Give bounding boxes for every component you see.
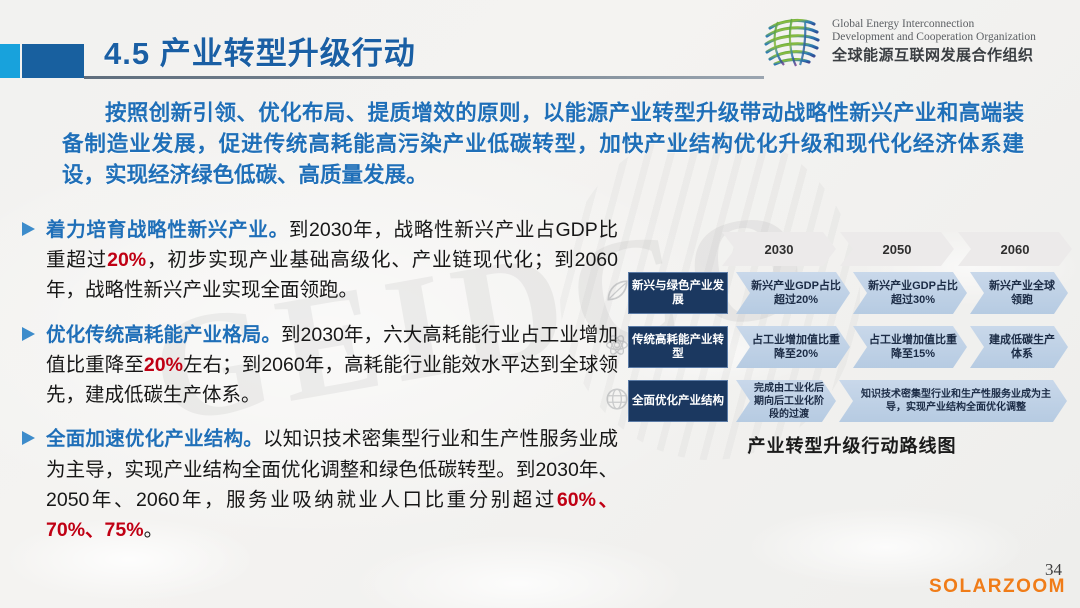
roadmap-year-header: 2030 2050 2060 <box>722 232 1076 270</box>
list-item: 全面加速优化产业结构。以知识技术密集型行业和生产性服务业成为主导，实现产业结构全… <box>18 424 618 545</box>
arrow-bullet-icon <box>22 327 35 341</box>
roadmap-row-label: 全面优化产业结构 <box>628 380 728 422</box>
bullet-list: 着力培育战略性新兴产业。到2030年，战略性新兴产业占GDP比重超过20%，初步… <box>18 215 618 559</box>
roadmap-year-2030: 2030 <box>722 232 836 266</box>
list-item: 着力培育战略性新兴产业。到2030年，战略性新兴产业占GDP比重超过20%，初步… <box>18 215 618 306</box>
header-accent-square-cyan <box>0 44 20 78</box>
list-item: 优化传统高耗能产业格局。到2030年，六大高耗能行业占工业增加值比重降至20%左… <box>18 320 618 411</box>
roadmap-step: 新兴产业GDP占比超过30% <box>853 272 967 314</box>
roadmap-year-2060: 2060 <box>958 232 1072 266</box>
bullet-heading: 优化传统高耗能产业格局。 <box>46 324 281 346</box>
roadmap-step: 新兴产业全球领跑 <box>970 272 1068 314</box>
leaf-icon <box>604 278 630 304</box>
bullet-highlight-1: 20% <box>107 249 146 271</box>
solarzoom-watermark: SOLARZOOM <box>929 576 1066 598</box>
bullet-heading: 着力培育战略性新兴产业。 <box>46 219 289 241</box>
roadmap-step: 知识技术密集型行业和生产性服务业成为主导，实现产业结构全面优化调整 <box>839 380 1067 422</box>
roadmap-steps: 新兴产业GDP占比超过20% 新兴产业GDP占比超过30% 新兴产业全球领跑 <box>736 272 1076 314</box>
roadmap-row-label: 新兴与绿色产业发展 <box>628 272 728 314</box>
roadmap-row: 传统高耗能产业转型 占工业增加值比重降至20% 占工业增加值比重降至15% 建成… <box>628 324 1076 370</box>
bullet-text: 全面加速优化产业结构。以知识技术密集型行业和生产性服务业成为主导，实现产业结构全… <box>46 424 618 545</box>
bullet-text: 优化传统高耗能产业格局。到2030年，六大高耗能行业占工业增加值比重降至20%左… <box>46 320 618 411</box>
organization-logo: Global Energy Interconnection Developmen… <box>762 12 1036 70</box>
header-accent-square-blue <box>22 44 84 78</box>
roadmap-diagram: 2030 2050 2060 新兴与绿色产业发展 新兴产业GDP占比超过20% … <box>628 232 1076 458</box>
roadmap-step: 完成由工业化后期向后工业化阶段的过渡 <box>736 380 836 422</box>
arrow-bullet-icon <box>22 222 35 236</box>
bullet-highlight-1: 20% <box>144 354 183 376</box>
lead-paragraph: 按照创新引领、优化布局、提质增效的原则，以能源产业转型升级带动战略性新兴产业和高… <box>62 98 1024 192</box>
page-title: 4.5 产业转型升级行动 <box>104 28 416 73</box>
slide-canvas: GEIDCO 4.5 产业转型升级行动 <box>0 0 1080 608</box>
roadmap-row-label: 传统高耗能产业转型 <box>628 326 728 368</box>
roadmap-step: 新兴产业GDP占比超过20% <box>736 272 850 314</box>
globe-grid-logo-icon <box>762 12 822 70</box>
roadmap-steps: 完成由工业化后期向后工业化阶段的过渡 知识技术密集型行业和生产性服务业成为主导，… <box>736 380 1076 422</box>
logo-en-line2: Development and Cooperation Organization <box>832 31 1036 44</box>
roadmap-caption: 产业转型升级行动路线图 <box>628 432 1076 458</box>
roadmap-step: 占工业增加值比重降至20% <box>736 326 850 368</box>
bullet-text: 着力培育战略性新兴产业。到2030年，战略性新兴产业占GDP比重超过20%，初步… <box>46 215 618 306</box>
atom-icon <box>604 332 630 358</box>
arrow-bullet-icon <box>22 431 35 445</box>
roadmap-steps: 占工业增加值比重降至20% 占工业增加值比重降至15% 建成低碳生产体系 <box>736 326 1076 368</box>
logo-en-line1: Global Energy Interconnection <box>832 18 1036 31</box>
roadmap-row: 全面优化产业结构 完成由工业化后期向后工业化阶段的过渡 知识技术密集型行业和生产… <box>628 378 1076 424</box>
roadmap-year-2050: 2050 <box>840 232 954 266</box>
roadmap-row: 新兴与绿色产业发展 新兴产业GDP占比超过20% 新兴产业GDP占比超过30% … <box>628 270 1076 316</box>
globe-icon <box>604 386 630 412</box>
roadmap-step: 建成低碳生产体系 <box>970 326 1068 368</box>
header-divider <box>84 76 764 79</box>
roadmap-step: 占工业增加值比重降至15% <box>853 326 967 368</box>
logo-text-block: Global Energy Interconnection Developmen… <box>832 18 1036 63</box>
bullet-heading: 全面加速优化产业结构。 <box>46 428 263 450</box>
bullet-segment-2: 。 <box>144 519 164 541</box>
logo-cn-name: 全球能源互联网发展合作组织 <box>832 47 1036 64</box>
